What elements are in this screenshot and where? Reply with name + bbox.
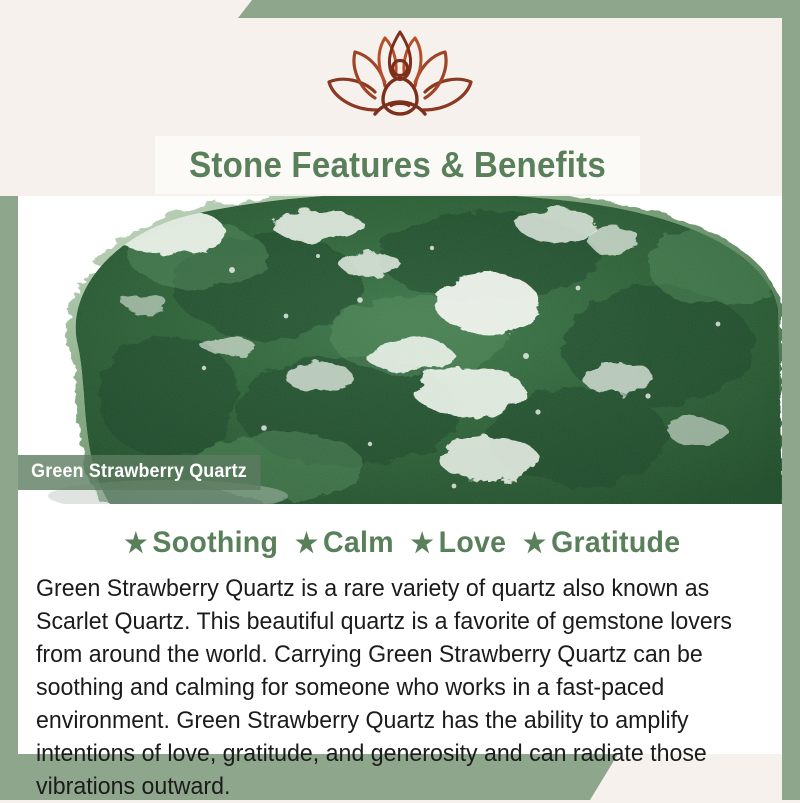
- star-icon: ★: [295, 528, 318, 559]
- description-text: Green Strawberry Quartz is a rare variet…: [36, 572, 739, 803]
- star-icon: ★: [124, 528, 147, 559]
- feature-keyword-2: Love: [439, 526, 507, 559]
- frame-accent-left: [0, 196, 18, 800]
- frame-accent-right: [782, 0, 800, 800]
- description-block: ★Soothing ★Calm ★Love ★Gratitude Green S…: [18, 504, 782, 754]
- page-title: Stone Features & Benefits: [189, 144, 606, 186]
- feature-keyword-3: Gratitude: [551, 526, 680, 559]
- feature-keyword-0: Soothing: [152, 526, 278, 559]
- lotus-meditation-icon: [325, 26, 475, 127]
- section-title-panel: Stone Features & Benefits: [155, 136, 640, 194]
- feature-keywords: ★Soothing ★Calm ★Love ★Gratitude: [54, 526, 746, 560]
- photo-caption: Green Strawberry Quartz: [18, 455, 260, 490]
- content-sheet: BUDDHA STONES Stone Features & Benefits: [18, 18, 782, 754]
- star-icon: ★: [523, 528, 546, 559]
- stone-photo: Green Strawberry Quartz: [18, 196, 782, 504]
- frame-accent-top-right: [238, 0, 800, 18]
- feature-keyword-1: Calm: [323, 526, 394, 559]
- star-icon: ★: [411, 528, 434, 559]
